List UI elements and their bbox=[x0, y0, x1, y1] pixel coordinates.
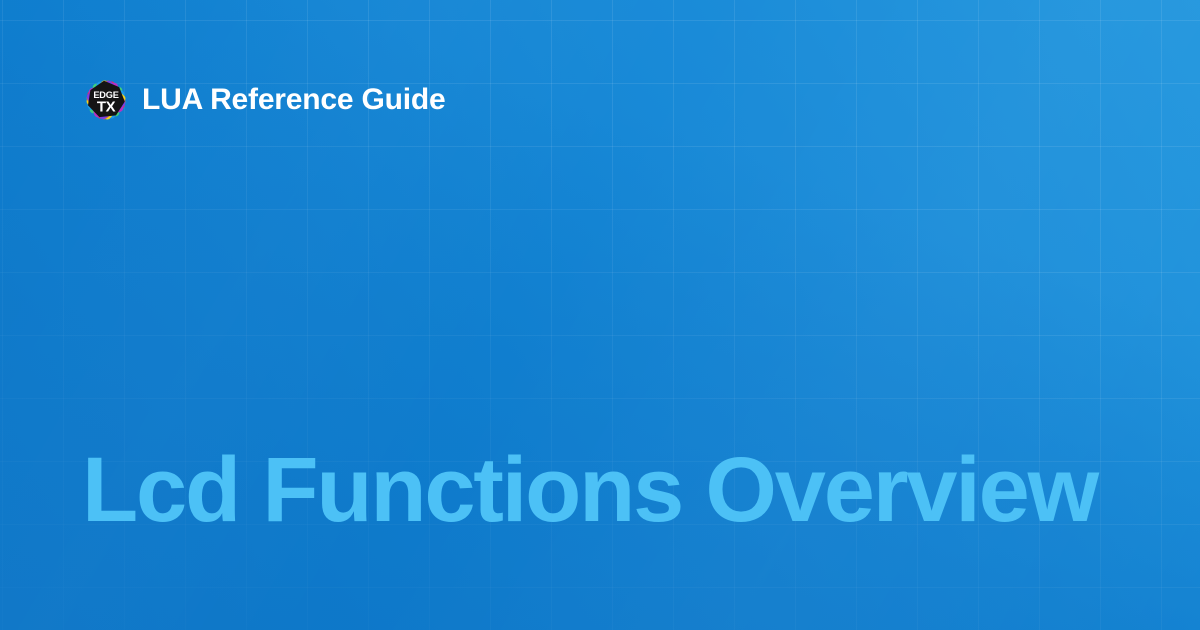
site-title: LUA Reference Guide bbox=[142, 85, 446, 115]
svg-text:TX: TX bbox=[97, 98, 116, 115]
header: EDGE TX LUA Reference Guide bbox=[84, 78, 446, 122]
page-title: Lcd Functions Overview bbox=[82, 444, 1097, 538]
open-graph-card: EDGE TX LUA Reference Guide Lcd Function… bbox=[0, 0, 1200, 630]
edgetx-logo-icon: EDGE TX bbox=[84, 78, 128, 122]
